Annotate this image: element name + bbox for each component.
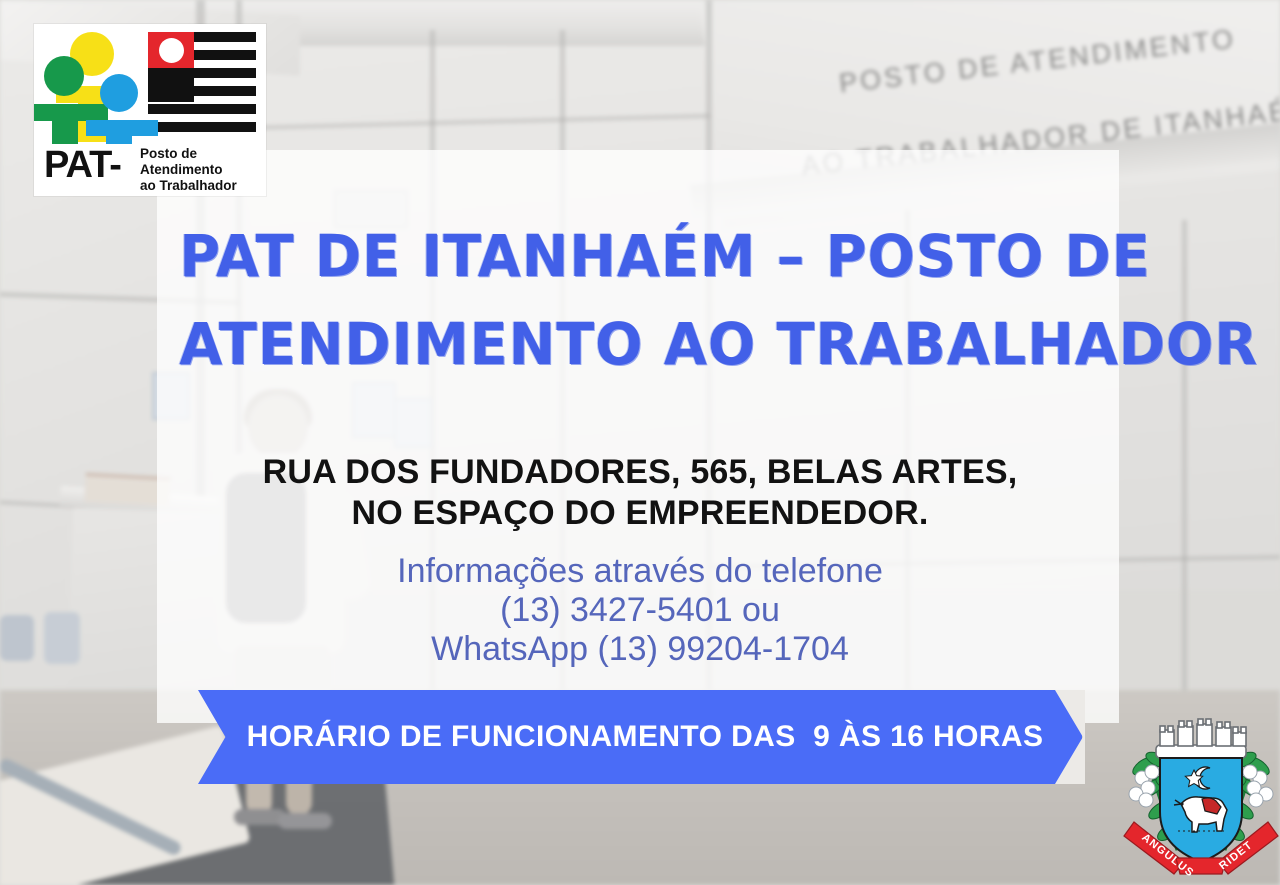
photo-person-sandal-right: [278, 813, 332, 829]
flag-red-canton: [148, 32, 194, 68]
contact-phone: (13) 3427-5401 ou: [160, 591, 1120, 630]
pat-logo-emblem: [44, 32, 256, 142]
flag-white-circle: [159, 38, 184, 63]
photo-wall-dispenser-1: [0, 615, 34, 661]
coa-mural-crown-icon: [1156, 719, 1246, 758]
contact-whatsapp: WhatsApp (13) 99204-1704: [160, 630, 1120, 669]
pat-subtitle-line2: ao Trabalhador: [140, 178, 237, 193]
pat-logo-text: PAT- Posto de Atendimento ao Trabalhador: [44, 142, 256, 190]
address-line-2: NO ESPAÇO DO EMPREENDEDOR.: [160, 493, 1120, 534]
address-line-1: RUA DOS FUNDADORES, 565, BELAS ARTES,: [160, 452, 1120, 493]
hours-ribbon: HORÁRIO DE FUNCIONAMENTO DAS 9 ÀS 16 HOR…: [198, 690, 1082, 784]
photo-mullion-7: [1182, 220, 1187, 720]
flag-black-block: [148, 68, 194, 102]
poster-canvas: POSTO DE ATENDIMENTO AO TRABALHADOR DE I…: [0, 0, 1280, 885]
itanhaem-coat-of-arms: ANGULUS RIDET: [1118, 700, 1280, 885]
photo-wall-dispenser-2: [44, 612, 80, 664]
hours-ribbon-label: HORÁRIO DE FUNCIONAMENTO DAS 9 ÀS 16 HOR…: [247, 720, 1044, 754]
contact-line-1: Informações através do telefone: [160, 552, 1120, 591]
pat-subtitle-line1: Posto de Atendimento: [140, 146, 223, 177]
headline-line-1: PAT DE ITANHAÉM – POSTO DE: [179, 212, 1101, 300]
sao-paulo-flag-icon: [148, 32, 256, 136]
pat-logo: PAT- Posto de Atendimento ao Trabalhador: [34, 24, 266, 196]
contact-block: Informações através do telefone (13) 342…: [160, 552, 1120, 669]
pat-acronym: PAT-: [44, 144, 121, 187]
headline: PAT DE ITANHAÉM – POSTO DE ATENDIMENTO A…: [179, 212, 1101, 388]
headline-line-2: ATENDIMENTO AO TRABALHADOR: [179, 300, 1101, 388]
address-block: RUA DOS FUNDADORES, 565, BELAS ARTES, NO…: [160, 452, 1120, 534]
pat-subtitle: Posto de Atendimento ao Trabalhador: [140, 146, 256, 194]
